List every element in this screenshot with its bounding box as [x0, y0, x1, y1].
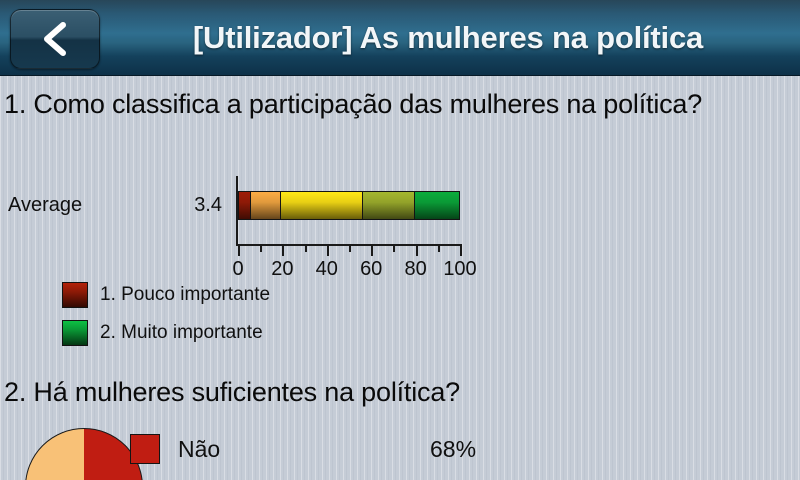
- bar-chart-tick: [305, 246, 307, 252]
- bar-chart-row-label: Average: [8, 194, 82, 217]
- bar-chart-tick: [349, 246, 351, 252]
- bar-chart-plot: 020406080100: [236, 176, 460, 262]
- legend-swatch: [62, 320, 88, 346]
- bar-chart-tick: [416, 246, 418, 256]
- bar-chart-tick-label: 20: [271, 258, 293, 281]
- titlebar: [Utilizador] As mulheres na política: [0, 0, 800, 76]
- bar-segment: [280, 192, 362, 219]
- question-1-bar-chart: Average 3.4 020406080100: [0, 176, 500, 286]
- pie-legend-percent-nao: 68%: [430, 436, 476, 463]
- bar-chart-tick: [282, 246, 284, 256]
- back-button[interactable]: [10, 9, 100, 69]
- bar-segment: [239, 192, 250, 219]
- pie-chart-graphic: [25, 428, 143, 480]
- question-2-pie-chart: Não 68%: [0, 428, 800, 480]
- bar-chart-tick: [327, 246, 329, 256]
- bar-chart-tick: [260, 246, 262, 252]
- pie-chart-legend: Não 68%: [130, 434, 550, 464]
- page-title: [Utilizador] As mulheres na política: [110, 0, 786, 76]
- legend-label: 1. Pouco importante: [100, 284, 270, 306]
- bar-chart-legend: 1. Pouco importante2. Muito importante: [62, 276, 270, 352]
- legend-swatch: [62, 282, 88, 308]
- bar-chart-tick: [371, 246, 373, 256]
- bar-chart-tick-label: 40: [316, 258, 338, 281]
- content-area: 1. Como classifica a participação das mu…: [0, 76, 800, 480]
- pie-legend-swatch-nao: [130, 434, 160, 464]
- bar-chart-row-value: 3.4: [150, 194, 222, 217]
- bar-chart-tick: [393, 246, 395, 252]
- app-root: [Utilizador] As mulheres na política 1. …: [0, 0, 800, 480]
- bar-chart-tick-label: 60: [360, 258, 382, 281]
- question-2-text: 2. Há mulheres suficientes na política?: [4, 376, 772, 409]
- bar-chart-tick-label: 80: [404, 258, 426, 281]
- bar-chart-tick: [438, 246, 440, 252]
- bar-segment: [250, 192, 280, 219]
- chevron-left-icon: [38, 19, 72, 59]
- bar-chart-stacked-bar: [238, 191, 460, 220]
- question-1-text: 1. Como classifica a participação das mu…: [4, 88, 772, 121]
- bar-chart-tick: [460, 246, 462, 256]
- legend-label: 2. Muito importante: [100, 322, 263, 344]
- legend-item: 1. Pouco importante: [62, 276, 270, 314]
- legend-item: 2. Muito importante: [62, 314, 270, 352]
- pie-legend-label-nao: Não: [178, 436, 220, 463]
- bar-segment: [362, 192, 414, 219]
- pie-chart-graphic-wrapper: [25, 428, 143, 480]
- bar-segment: [414, 192, 460, 219]
- bar-chart-tick: [238, 246, 240, 256]
- bar-chart-tick-label: 100: [443, 258, 476, 281]
